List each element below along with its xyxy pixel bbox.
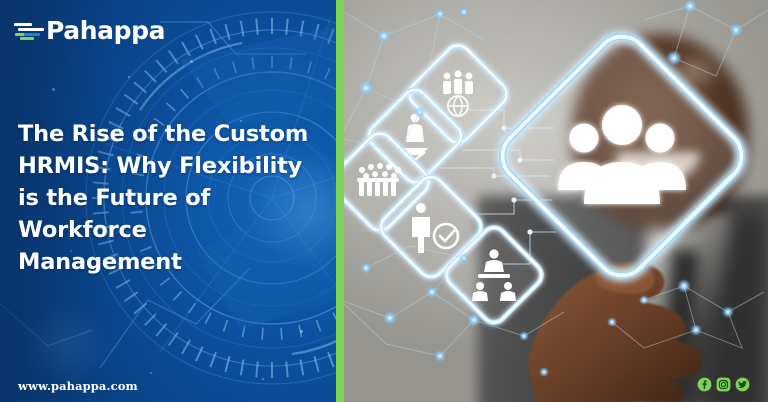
title-line-4: Workforce [18,215,323,247]
title-line-2: HRMIS: Why Flexibility [18,151,323,183]
star-dot [128,76,130,78]
page-title: The Rise of the Custom HRMIS: Why Flexib… [18,119,323,279]
left-content-panel: Pahappa The Rise of the Custom HRMIS: Wh… [0,0,336,402]
workforce-crowd-icon [357,163,401,196]
green-divider [336,0,344,402]
global-team-icon [443,70,473,116]
twitter-icon[interactable] [735,377,750,392]
card-promotion [364,85,466,187]
card-workforce [344,128,434,235]
businessman-smile [616,152,700,178]
facebook-icon[interactable] [697,377,712,392]
star-dot [190,60,193,63]
star-dot [262,378,264,380]
blog-banner: Pahappa The Rise of the Custom HRMIS: Wh… [0,0,768,402]
title-line-1: The Rise of the Custom [18,119,323,151]
website-url[interactable]: www.pahappa.com [18,379,138,393]
businessman-lapel [644,214,764,402]
social-links[interactable] [697,377,750,392]
star-dot [52,88,55,91]
star-dot [150,372,152,374]
verified-employee-icon [412,203,458,253]
title-line-5: Management [18,247,323,279]
card-global-team [404,40,511,147]
card-verified-employee [376,172,486,282]
title-line-3: is the Future of [18,183,323,215]
star-dot [300,330,303,333]
pahappa-speed-lines-mark [14,17,48,43]
employee-promotion-icon [402,114,428,160]
instagram-icon[interactable] [716,377,731,392]
logo-wordmark: Pahappa [46,18,165,43]
hero-image-panel [344,0,768,402]
businessman-highlight [666,52,724,92]
glow-accent-2 [20,300,110,390]
pahappa-logo[interactable]: Pahappa [14,17,165,43]
